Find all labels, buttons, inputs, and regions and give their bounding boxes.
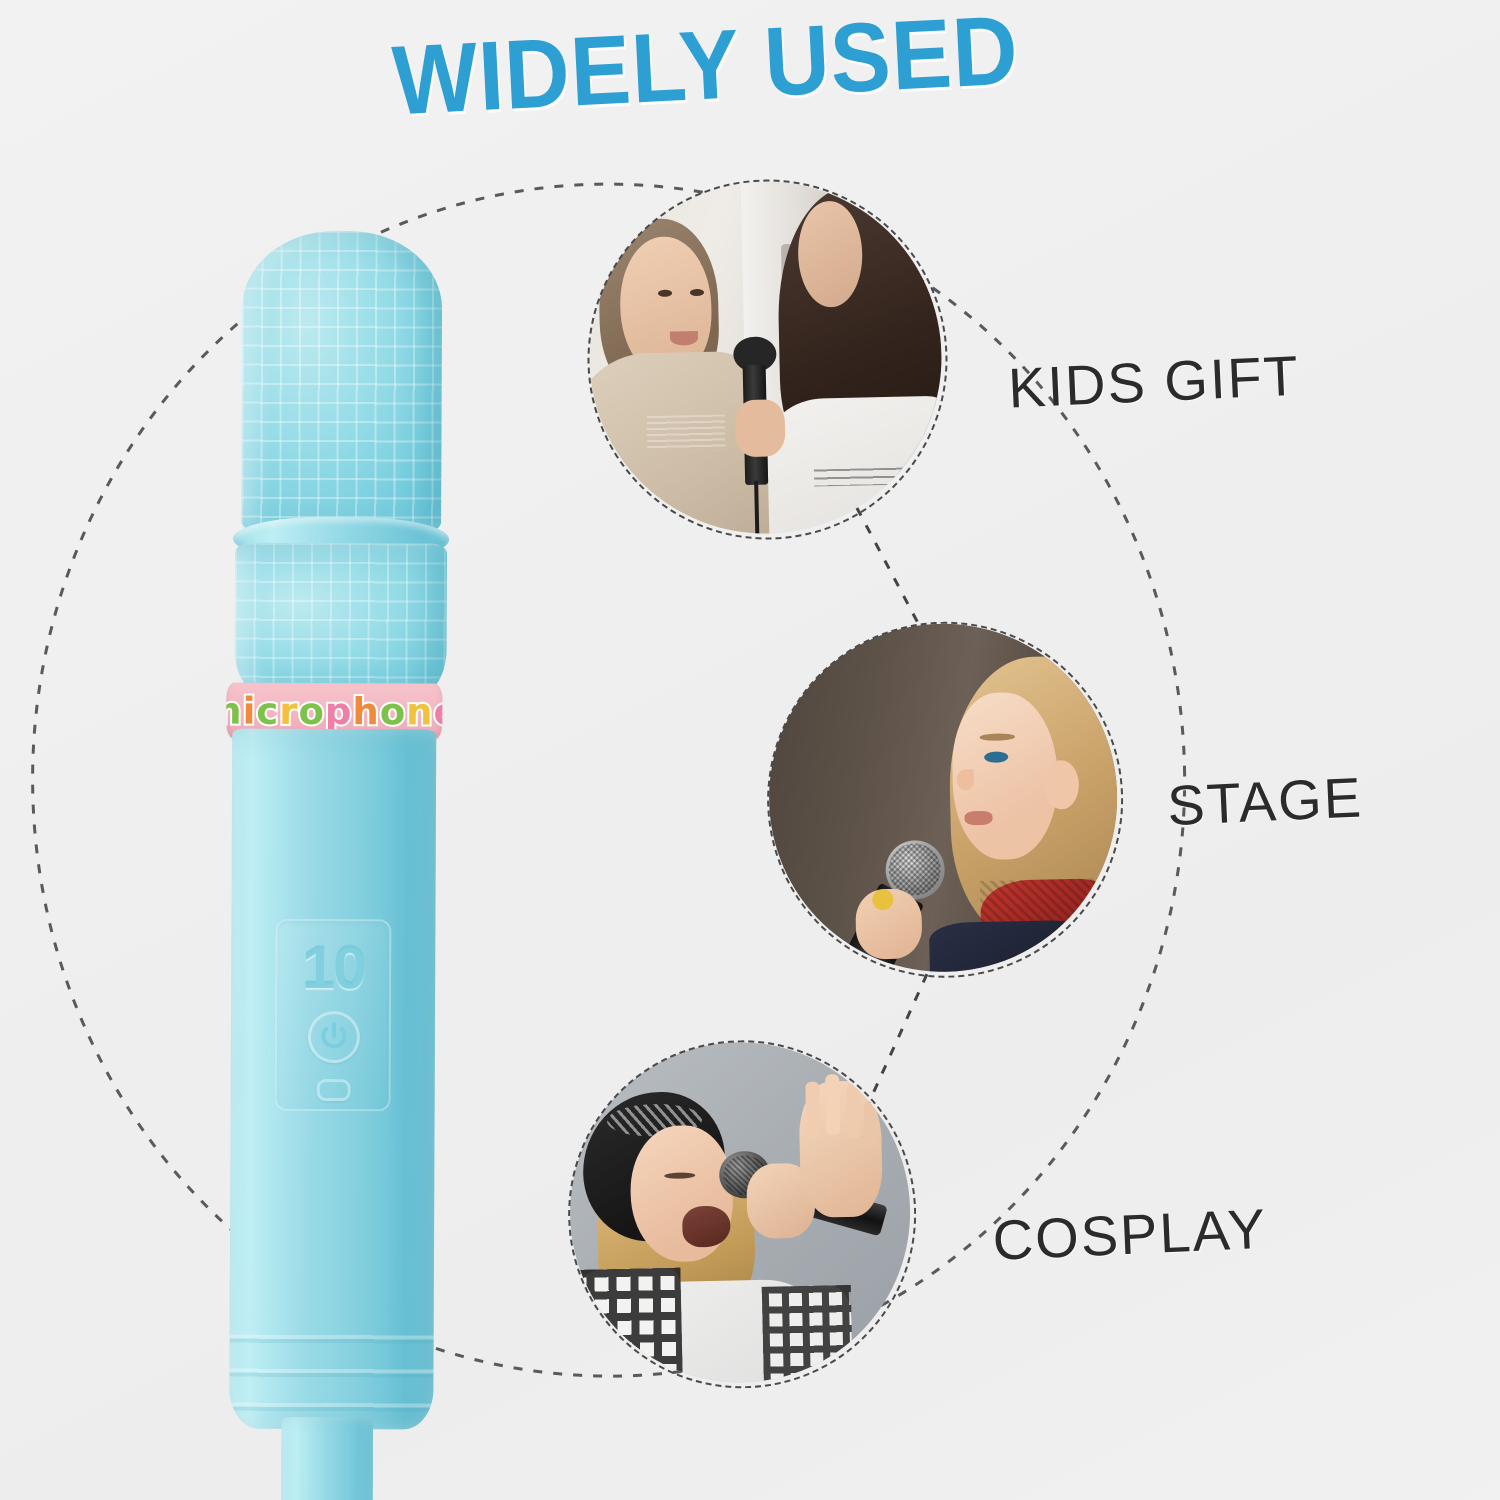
- microphone-brand-text: microphone: [226, 689, 442, 733]
- infographic-canvas: WIDELY USED microphone 10: [0, 0, 1500, 1500]
- microphone-display-value: 10: [275, 933, 391, 1003]
- use-case-photo-cosplay: [566, 1039, 913, 1386]
- microphone-grille-top: [241, 231, 442, 532]
- use-case-photo-stage: [765, 620, 1121, 976]
- rounded-square-icon[interactable]: [317, 1079, 351, 1101]
- use-case-label-kids-gift: KIDS GIFT: [1007, 343, 1301, 421]
- microphone-grille-lower: [234, 543, 447, 694]
- card-panel: WIDELY USED microphone 10: [0, 0, 1500, 1500]
- use-case-photo-kids-gift: [586, 178, 946, 538]
- use-case-label-cosplay: COSPLAY: [991, 1196, 1268, 1273]
- page-title: WIDELY USED: [0, 0, 1457, 159]
- microphone-base-stub: [281, 1417, 374, 1500]
- microphone-control-panel: 10: [275, 919, 392, 1112]
- page-title-text: WIDELY USED: [389, 0, 1020, 137]
- product-microphone: microphone 10: [196, 230, 465, 1351]
- power-icon[interactable]: [308, 1011, 360, 1063]
- use-case-label-stage: STAGE: [1166, 764, 1364, 838]
